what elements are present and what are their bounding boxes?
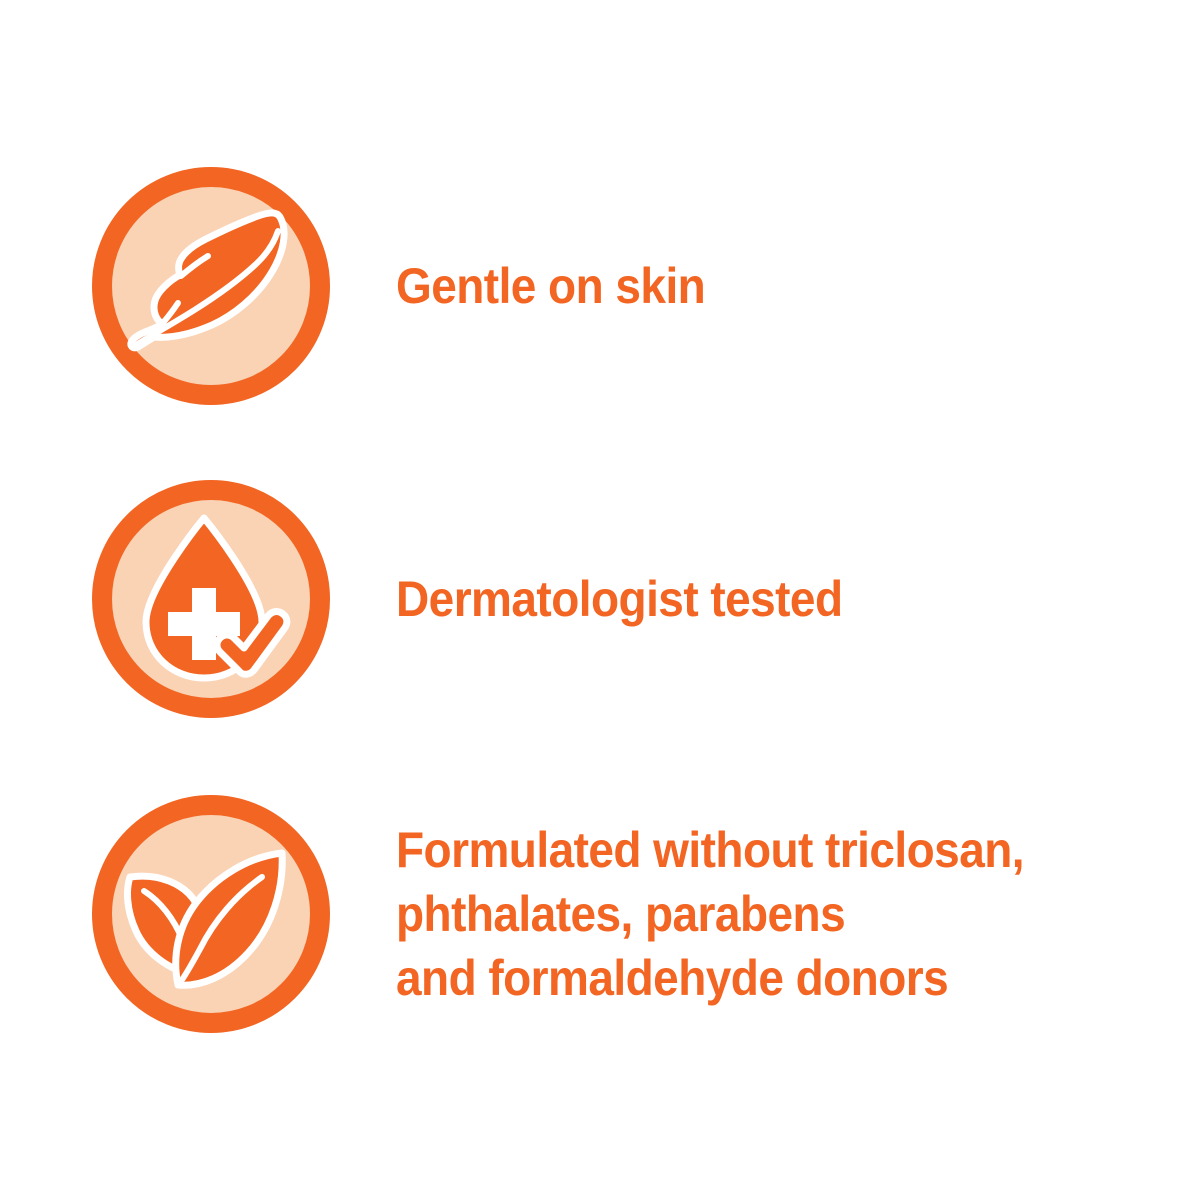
benefit-row: Gentle on skin (92, 167, 1172, 405)
feather-icon-badge (92, 167, 330, 405)
feather-icon (112, 187, 310, 385)
droplet-medical-cross-check-icon (112, 500, 310, 698)
benefit-label-formulated-without: Formulated without triclosan, phthalates… (396, 818, 1024, 1010)
benefit-label-gentle-on-skin: Gentle on skin (396, 257, 705, 315)
leaves-icon (112, 815, 310, 1013)
benefit-row: Formulated without triclosan, phthalates… (92, 795, 1172, 1033)
benefit-label-dermatologist-tested: Dermatologist tested (396, 570, 843, 628)
leaves-icon-badge (92, 795, 330, 1033)
droplet-medical-cross-check-icon-badge (92, 480, 330, 718)
benefits-panel: Gentle on skin Dermatologist tested (0, 0, 1200, 1200)
benefit-row: Dermatologist tested (92, 480, 1172, 718)
